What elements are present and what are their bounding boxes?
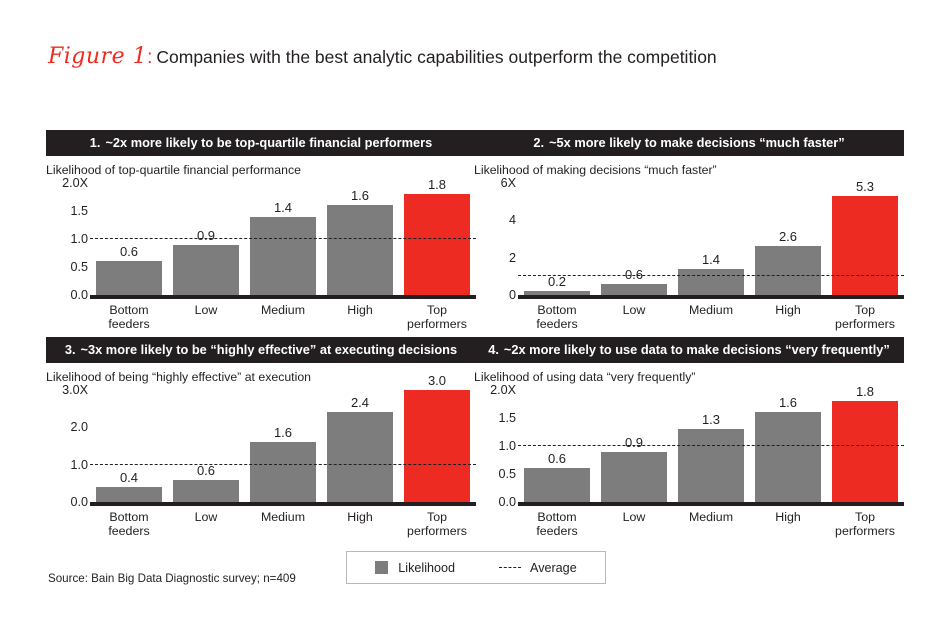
bar-slot: 0.6 (601, 183, 667, 295)
bar-slot: 1.6 (250, 390, 316, 502)
category-label-line: Medium (243, 303, 323, 317)
bar-slot: 1.6 (327, 183, 393, 295)
legend-swatch-icon (375, 561, 388, 574)
panel-1-ytick-1: 0.5 (70, 260, 88, 274)
panel-1-header-text: ~2x more likely to be top-quartile finan… (105, 135, 432, 150)
panel-2-number: 2. (533, 135, 544, 150)
panel-2-plot: 0246X 0.2Bottomfeeders0.6Low1.4Medium2.6… (474, 183, 904, 299)
category-label-line: Bottom (517, 510, 597, 524)
panel-3-ytick-2: 2.0 (70, 420, 88, 434)
panel-4-ytick-1: 0.5 (498, 467, 516, 481)
bar-highlight (404, 194, 470, 295)
bar-slot: 1.3 (678, 390, 744, 502)
bar (327, 412, 393, 502)
panel-4-plot: 0.00.51.01.52.0X 0.6Bottomfeeders0.9Low1… (474, 390, 904, 506)
bar (601, 452, 667, 502)
category-label-line: Bottom (517, 303, 597, 317)
bar-slot: 1.6 (755, 390, 821, 502)
panel-1-number: 1. (90, 135, 101, 150)
bar (524, 468, 590, 502)
bar-value-label: 0.9 (601, 435, 667, 450)
bar-slot: 3.0 (404, 390, 470, 502)
bar-slot: 0.4 (96, 390, 162, 502)
bar-slot: 1.8 (404, 183, 470, 295)
panel-4-ytick-2: 1.0 (498, 439, 516, 453)
category-label: High (320, 510, 400, 524)
category-label-line: Low (594, 303, 674, 317)
panel-4-ytick-4: 2.0X (490, 383, 516, 397)
legend-dash-icon (499, 567, 521, 568)
bar-slot: 1.4 (678, 183, 744, 295)
panel-4-number: 4. (488, 342, 499, 357)
chart-legend: Likelihood Average (346, 551, 606, 584)
category-label: Topperformers (397, 303, 477, 331)
panel-4-y-axis: 0.00.51.01.52.0X (474, 390, 516, 506)
bar (96, 487, 162, 502)
category-label-line: performers (397, 317, 477, 331)
chart-panel-1: 1.~2x more likely to be top-quartile fin… (46, 130, 476, 320)
bar-slot: 0.6 (524, 390, 590, 502)
bar-value-label: 0.2 (524, 274, 590, 289)
panel-2-y-axis: 0246X (474, 183, 516, 299)
figure-label: Figure 1 (48, 44, 147, 69)
chart-panel-4: 4.~2x more likely to use data to make de… (474, 337, 904, 527)
category-label-line: performers (397, 524, 477, 538)
bar-value-label: 1.4 (250, 200, 316, 215)
panel-4-baseline (518, 502, 904, 506)
panel-2-bars: 0.2Bottomfeeders0.6Low1.4Medium2.6High5.… (518, 183, 904, 299)
category-label: Topperformers (397, 510, 477, 538)
category-label: Medium (671, 510, 751, 524)
chart-panel-2: 2.~5x more likely to make decisions “muc… (474, 130, 904, 320)
category-label-line: feeders (89, 524, 169, 538)
category-label: Low (166, 510, 246, 524)
legend-label-average: Average (530, 561, 577, 575)
category-label-line: feeders (517, 317, 597, 331)
panel-3-number: 3. (65, 342, 76, 357)
panel-4-header: 4.~2x more likely to use data to make de… (474, 337, 904, 363)
panel-4-ytick-0: 0.0 (498, 495, 516, 509)
bar-highlight (404, 390, 470, 502)
bar-value-label: 1.6 (327, 188, 393, 203)
category-label: Bottomfeeders (517, 510, 597, 538)
figure-colon: : (147, 47, 152, 68)
category-label: Low (594, 303, 674, 317)
category-label-line: Medium (243, 510, 323, 524)
panel-3-header: 3.~3x more likely to be “highly effectiv… (46, 337, 476, 363)
category-label-line: Top (397, 510, 477, 524)
bar-slot: 0.6 (173, 390, 239, 502)
panel-4-average-line (518, 445, 904, 446)
panel-3-y-axis: 0.01.02.03.0X (46, 390, 88, 506)
category-label-line: Top (825, 510, 905, 524)
panel-3-baseline (90, 502, 476, 506)
source-note: Source: Bain Big Data Diagnostic survey;… (48, 572, 296, 585)
category-label-line: feeders (517, 524, 597, 538)
bar-slot: 1.8 (832, 390, 898, 502)
bar (755, 246, 821, 295)
panel-2-ytick-0: 0 (509, 288, 516, 302)
category-label-line: performers (825, 524, 905, 538)
bar-slot: 0.9 (173, 183, 239, 295)
bar (173, 245, 239, 295)
bar-slot: 2.4 (327, 390, 393, 502)
bar-value-label: 0.6 (96, 244, 162, 259)
category-label: Medium (243, 510, 323, 524)
panel-2-ytick-3: 6X (501, 176, 516, 190)
panel-1-baseline (90, 295, 476, 299)
panel-1-ytick-4: 2.0X (62, 176, 88, 190)
category-label-line: Top (825, 303, 905, 317)
legend-item-likelihood: Likelihood (375, 561, 455, 575)
panel-3-header-text: ~3x more likely to be “highly effective”… (81, 342, 458, 357)
category-label: Low (166, 303, 246, 317)
bar-value-label: 0.6 (524, 451, 590, 466)
category-label: Low (594, 510, 674, 524)
bar-slot: 0.2 (524, 183, 590, 295)
figure-title-text: Companies with the best analytic capabil… (156, 47, 716, 67)
panel-1-ytick-0: 0.0 (70, 288, 88, 302)
bar-value-label: 0.6 (173, 463, 239, 478)
category-label: Medium (671, 303, 751, 317)
category-label-line: Medium (671, 303, 751, 317)
category-label: Topperformers (825, 303, 905, 331)
bar (250, 217, 316, 295)
panel-3-plot: 0.01.02.03.0X 0.4Bottomfeeders0.6Low1.6M… (46, 390, 476, 506)
panel-1-ytick-3: 1.5 (70, 204, 88, 218)
bar-value-label: 0.9 (173, 228, 239, 243)
bar-slot: 0.6 (96, 183, 162, 295)
bar-slot: 5.3 (832, 183, 898, 295)
category-label-line: Bottom (89, 303, 169, 317)
panel-1-header: 1.~2x more likely to be top-quartile fin… (46, 130, 476, 156)
category-label-line: High (320, 510, 400, 524)
category-label-line: Medium (671, 510, 751, 524)
panel-3-average-line (90, 464, 476, 465)
panel-1-ytick-2: 1.0 (70, 232, 88, 246)
category-label: Topperformers (825, 510, 905, 538)
bar-slot: 2.6 (755, 183, 821, 295)
bar-value-label: 2.6 (755, 229, 821, 244)
bar-value-label: 0.6 (601, 267, 667, 282)
bar-value-label: 0.4 (96, 470, 162, 485)
category-label-line: Low (166, 510, 246, 524)
bar (173, 480, 239, 502)
category-label: Bottomfeeders (517, 303, 597, 331)
panel-3-bars: 0.4Bottomfeeders0.6Low1.6Medium2.4High3.… (90, 390, 476, 506)
panel-2-ytick-2: 4 (509, 213, 516, 227)
panel-2-header-text: ~5x more likely to make decisions “much … (549, 135, 845, 150)
bar-value-label: 1.6 (755, 395, 821, 410)
legend-item-average: Average (499, 561, 577, 575)
panel-2-baseline (518, 295, 904, 299)
category-label-line: High (320, 303, 400, 317)
panel-1-average-line (90, 238, 476, 239)
bar (327, 205, 393, 295)
category-label-line: Bottom (89, 510, 169, 524)
category-label: Bottomfeeders (89, 510, 169, 538)
category-label-line: Top (397, 303, 477, 317)
bar (250, 442, 316, 502)
bar (755, 412, 821, 502)
category-label-line: feeders (89, 317, 169, 331)
bar (678, 429, 744, 502)
panel-3-ytick-1: 1.0 (70, 458, 88, 472)
category-label-line: High (748, 303, 828, 317)
bar-highlight (832, 401, 898, 502)
panel-2-header: 2.~5x more likely to make decisions “muc… (474, 130, 904, 156)
category-label: High (320, 303, 400, 317)
bar-slot: 1.4 (250, 183, 316, 295)
bar (678, 269, 744, 295)
panel-3-ytick-3: 3.0X (62, 383, 88, 397)
category-label: Medium (243, 303, 323, 317)
panel-2-ytick-1: 2 (509, 251, 516, 265)
panel-1-plot: 0.00.51.01.52.0X 0.6Bottomfeeders0.9Low1… (46, 183, 476, 299)
bar (601, 284, 667, 295)
bar-value-label: 1.3 (678, 412, 744, 427)
category-label: High (748, 303, 828, 317)
category-label-line: performers (825, 317, 905, 331)
bar-value-label: 5.3 (832, 179, 898, 194)
bar-slot: 0.9 (601, 390, 667, 502)
panel-3-ytick-0: 0.0 (70, 495, 88, 509)
bar-value-label: 3.0 (404, 373, 470, 388)
bar-value-label: 1.6 (250, 425, 316, 440)
panel-1-bars: 0.6Bottomfeeders0.9Low1.4Medium1.6High1.… (90, 183, 476, 299)
figure-title: Figure 1:Companies with the best analyti… (48, 44, 717, 69)
category-label-line: Low (594, 510, 674, 524)
bar-value-label: 1.8 (404, 177, 470, 192)
panel-4-ytick-3: 1.5 (498, 411, 516, 425)
bar-value-label: 1.4 (678, 252, 744, 267)
bar (96, 261, 162, 295)
category-label: High (748, 510, 828, 524)
legend-label-likelihood: Likelihood (398, 561, 455, 575)
panel-1-y-axis: 0.00.51.01.52.0X (46, 183, 88, 299)
category-label: Bottomfeeders (89, 303, 169, 331)
bar-value-label: 1.8 (832, 384, 898, 399)
chart-panel-3: 3.~3x more likely to be “highly effectiv… (46, 337, 476, 527)
panel-4-bars: 0.6Bottomfeeders0.9Low1.3Medium1.6High1.… (518, 390, 904, 506)
bar (524, 291, 590, 295)
bar-highlight (832, 196, 898, 295)
bar-value-label: 2.4 (327, 395, 393, 410)
panel-4-header-text: ~2x more likely to use data to make deci… (504, 342, 890, 357)
category-label-line: High (748, 510, 828, 524)
category-label-line: Low (166, 303, 246, 317)
panel-2-subtitle: Likelihood of making decisions “much fas… (474, 163, 904, 179)
